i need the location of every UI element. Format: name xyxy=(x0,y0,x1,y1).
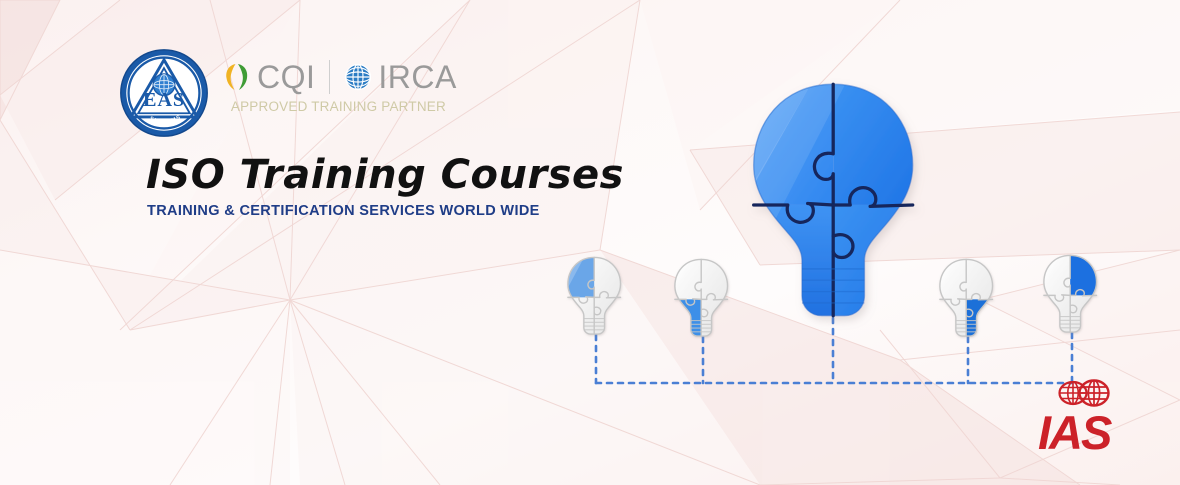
main-lightbulb-icon xyxy=(734,80,919,321)
small-lightbulb-3-icon xyxy=(934,258,994,338)
iso-training-courses-banner: EAS EMPOWERING ASSURANCE SYSTEMS xyxy=(0,0,1180,485)
ias-logo: IAS xyxy=(1036,378,1152,458)
puzzle-lightbulb-network-illustration xyxy=(0,0,1180,485)
ias-label: IAS xyxy=(1038,406,1112,457)
small-lightbulb-4-icon xyxy=(1038,254,1098,334)
small-lightbulb-1-icon xyxy=(562,256,622,336)
dashed-connector-lines xyxy=(596,307,1072,383)
small-lightbulb-2-icon xyxy=(669,258,729,338)
ias-globe-icon xyxy=(1078,378,1110,408)
ias-wordmark: IAS xyxy=(1036,405,1152,457)
